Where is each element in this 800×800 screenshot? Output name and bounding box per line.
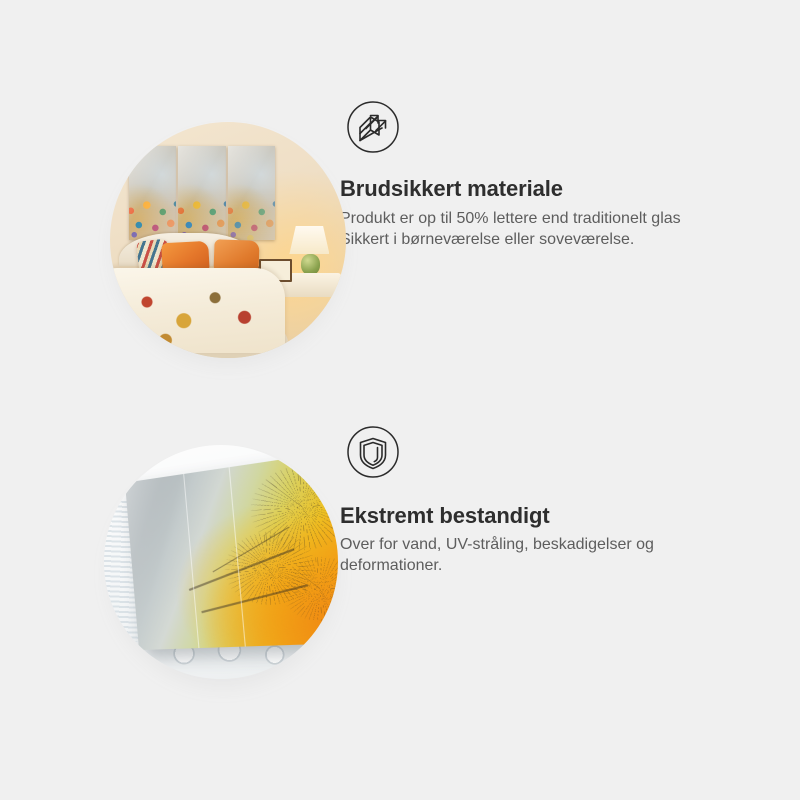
product-image-dandelion-print-photo xyxy=(0,425,340,695)
feature-text-column: Brudsikkert materiale Produkt er op til … xyxy=(340,100,740,250)
feature-title: Ekstremt bestandigt xyxy=(340,503,740,529)
shield-icon xyxy=(346,425,400,479)
layered-panel-arrows-icon xyxy=(346,100,400,154)
product-image-bedroom-triptych-photo xyxy=(0,100,340,370)
art-panel-center xyxy=(178,146,225,240)
circular-image-frame xyxy=(104,445,338,679)
feature-block-brudsikkert-materiale: Brudsikkert materiale Produkt er op til … xyxy=(0,100,740,370)
feature-text-column: Ekstremt bestandigt Over for vand, UV-st… xyxy=(340,425,740,576)
feature-block-ekstremt-bestandigt: Ekstremt bestandigt Over for vand, UV-st… xyxy=(0,425,740,695)
feature-description: Produkt er op til 50% lettere end tradit… xyxy=(340,208,720,250)
lamp-shade xyxy=(289,226,329,254)
triptych-wall-art xyxy=(129,146,275,240)
feature-description: Over for vand, UV-stråling, beskadigelse… xyxy=(340,534,720,576)
circular-image-frame xyxy=(110,122,346,358)
glass-print-panel xyxy=(125,451,338,651)
bed-duvet xyxy=(110,268,285,353)
bedroom-scene xyxy=(110,122,346,358)
art-panel-left xyxy=(129,146,176,240)
feature-title: Brudsikkert materiale xyxy=(340,176,740,202)
art-panel-right xyxy=(228,146,275,240)
dandelion-print-scene xyxy=(104,445,338,679)
glass-gloss-reflection xyxy=(125,451,338,651)
